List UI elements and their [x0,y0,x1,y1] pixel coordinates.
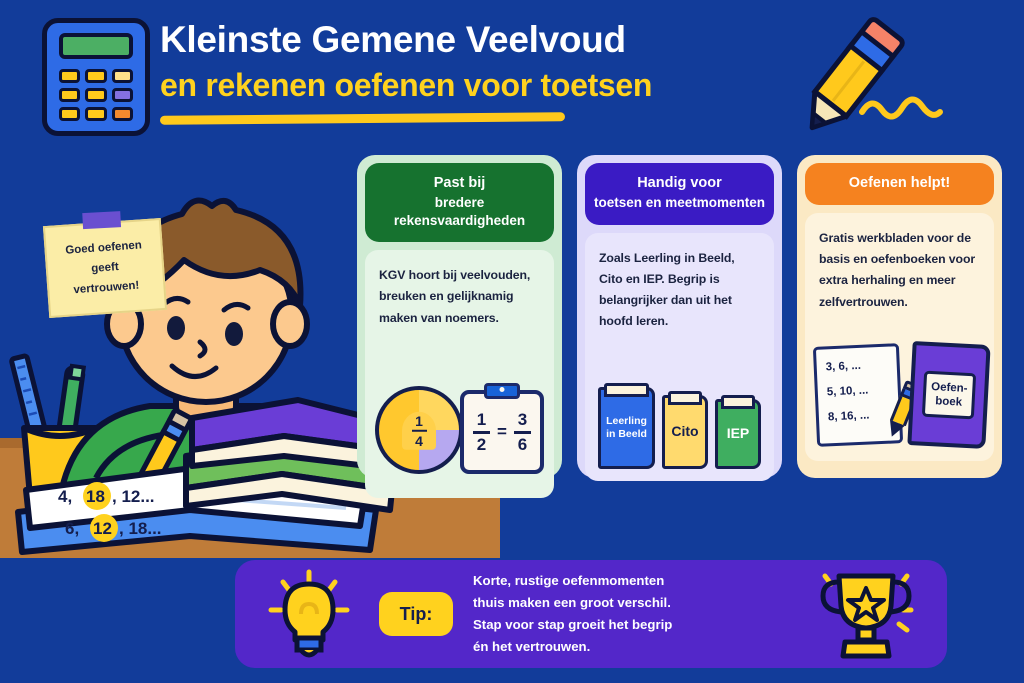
book-label: Cito [668,423,701,440]
pencil-icon [792,14,972,144]
book-leerling-in-beeld: Leerling in Beeld [598,387,655,469]
fraction-pie-chart: 1 4 [375,386,463,474]
fraction-right-bar [514,431,531,434]
calculator-key [112,88,133,102]
card-past-bij: Past bij bredere rekensvaardigheden KGV … [357,155,562,478]
fraction-equation: 1 2 = 3 6 [473,411,531,453]
book-iep: IEP [715,399,761,469]
card-2-body: Zoals Leerling in Beeld, Cito en IEP. Be… [585,233,774,481]
card-2-header: Handig voor toetsen en meetmomenten [585,163,774,225]
tip-banner: Tip: Korte, rustige oefenmomenten thuis … [235,560,947,668]
tip-line-3: Stap voor stap groeit het begrip [473,614,811,636]
fraction-left-numerator: 1 [477,411,486,429]
tip-line-1: Korte, rustige oefenmomenten [473,570,811,592]
calculator-display [59,33,133,59]
pie-denominator: 4 [415,434,423,448]
svg-text:6,: 6, [65,519,79,538]
calculator-key [59,88,80,102]
book-cito: Cito [662,395,708,469]
fraction-left-denominator: 2 [477,436,486,454]
clipboard-icon: 1 2 = 3 6 [460,390,544,474]
fraction-right-denominator: 6 [518,436,527,454]
calculator-key [112,69,133,83]
sticky-note: Goed oefenen geeft vertrouwen! [43,218,167,318]
title-underline [160,112,565,125]
page-subtitle: en rekenen oefenen voor toetsen [160,66,780,104]
lightbulb-icon [261,566,357,662]
card-3-body: Gratis werkbladen voor de basis en oefen… [805,213,994,461]
calculator-key [59,107,80,121]
card-1-header-sub: bredere rekensvaardigheden [373,194,546,229]
calculator-key [112,107,133,121]
svg-text:, 12...: , 12... [112,487,155,506]
svg-text:18: 18 [86,487,105,506]
card-1-header: Past bij bredere rekensvaardigheden [365,163,554,242]
card-3-illustration: 3, 6, ... 5, 10, ... 8, 16, ... Oefen- b… [811,343,990,451]
book-label-line-2: in Beeld [606,428,647,440]
calculator-key [59,69,80,83]
calculator-key [85,107,106,121]
infographic-canvas: Kleinste Gemene Veelvoud en rekenen oefe… [0,0,1024,683]
card-3-header-top: Oefenen helpt! [813,174,986,192]
calculator-icon [42,18,150,136]
student-illustration: 4, 18 , 12... 6, 12 , 18... [0,138,400,558]
card-2-header-sub: toetsen en meetmomenten [593,194,766,212]
card-1-body: KGV hoort bij veelvouden, breuken en gel… [365,250,554,498]
page-header: Kleinste Gemene Veelvoud en rekenen oefe… [160,18,780,123]
card-oefenen-helpt: Oefenen helpt! Gratis werkbladen voor de… [797,155,1002,478]
clipboard-clip [484,383,520,399]
fraction-left: 1 2 [473,411,490,453]
book-cover-plate: Oefen- boek [922,371,976,420]
svg-text:, 18...: , 18... [119,519,162,538]
card-3-header: Oefenen helpt! [805,163,994,205]
worksheet-row: 5, 10, ... [827,383,898,398]
fraction-left-bar [473,431,490,434]
sticky-note-tape [82,211,121,229]
calculator-keys [59,69,133,121]
card-2-header-top: Handig voor [593,174,766,192]
tip-line-2: thuis maken een groot verschil. [473,592,811,614]
fraction-right-numerator: 3 [518,411,527,429]
tip-line-4: én het vertrouwen. [473,636,811,658]
pie-numerator: 1 [415,414,423,428]
svg-text:4,: 4, [58,487,72,506]
card-3-text: Gratis werkbladen voor de basis en oefen… [819,228,980,313]
book-label-line-2: boek [935,394,963,410]
equals-sign: = [497,422,507,442]
book-oefenboek: Oefen- boek [907,341,990,449]
trophy-icon [811,566,921,662]
fraction-right: 3 6 [514,411,531,453]
card-2-illustration: Leerling in Beeld Cito IEP [595,369,764,469]
pie-fraction-bar [412,430,427,433]
pie-fraction-label: 1 4 [402,412,436,450]
tip-text: Korte, rustige oefenmomenten thuis maken… [473,570,811,659]
svg-text:12: 12 [93,519,112,538]
tip-pill: Tip: [379,592,453,636]
book-label-line-1: Leerling [606,415,647,427]
card-1-text: KGV hoort bij veelvouden, breuken en gel… [379,265,540,328]
calculator-key [85,88,106,102]
card-handig-voor: Handig voor toetsen en meetmomenten Zoal… [577,155,782,478]
book-label: IEP [724,425,753,442]
book-label: Leerling in Beeld [603,415,650,440]
card-1-header-top: Past bij [373,174,546,192]
card-1-illustration: 1 4 1 2 = 3 [371,380,550,486]
worksheet-row: 3, 6, ... [826,358,897,373]
page-title: Kleinste Gemene Veelvoud [160,18,780,62]
card-2-text: Zoals Leerling in Beeld, Cito en IEP. Be… [599,248,760,333]
calculator-key [85,69,106,83]
